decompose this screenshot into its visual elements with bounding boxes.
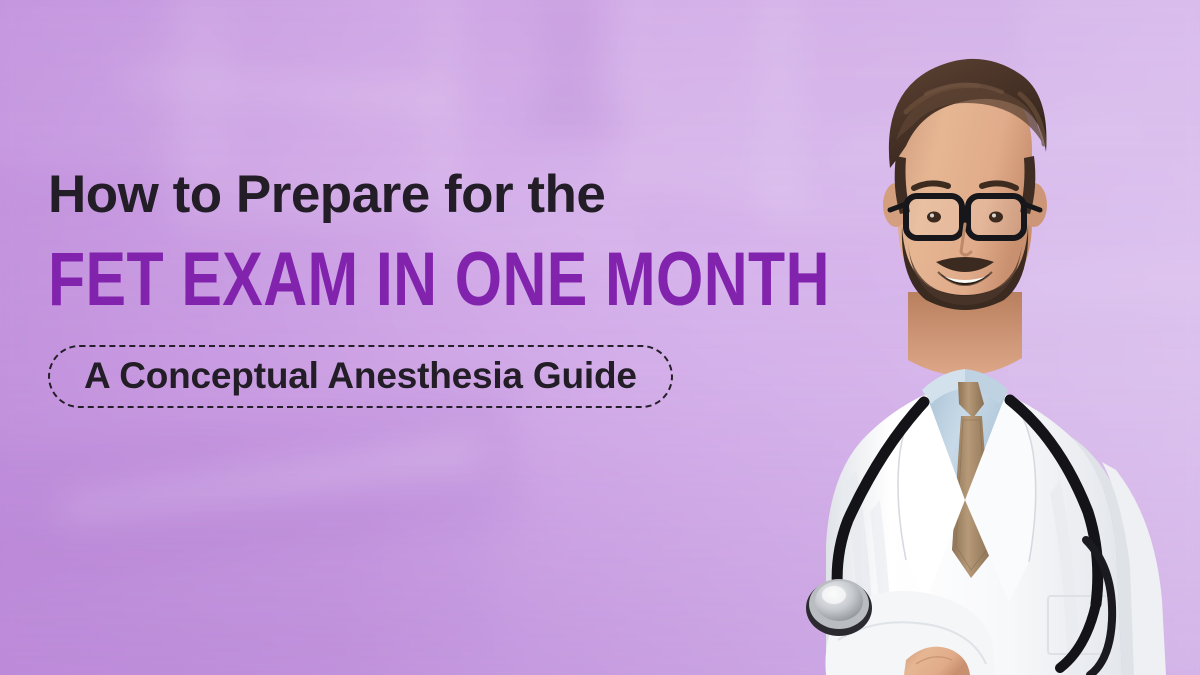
headline-line-1: How to Prepare for the bbox=[48, 168, 808, 221]
subtitle-pill: A Conceptual Anesthesia Guide bbox=[48, 345, 673, 408]
headline-block: How to Prepare for the FET Exam in One M… bbox=[48, 168, 808, 408]
headline-line-2: FET Exam in One Month bbox=[48, 245, 656, 315]
subtitle-text: A Conceptual Anesthesia Guide bbox=[84, 355, 637, 397]
promo-banner: Blurred purple-tinted hospital corridor … bbox=[0, 0, 1200, 675]
